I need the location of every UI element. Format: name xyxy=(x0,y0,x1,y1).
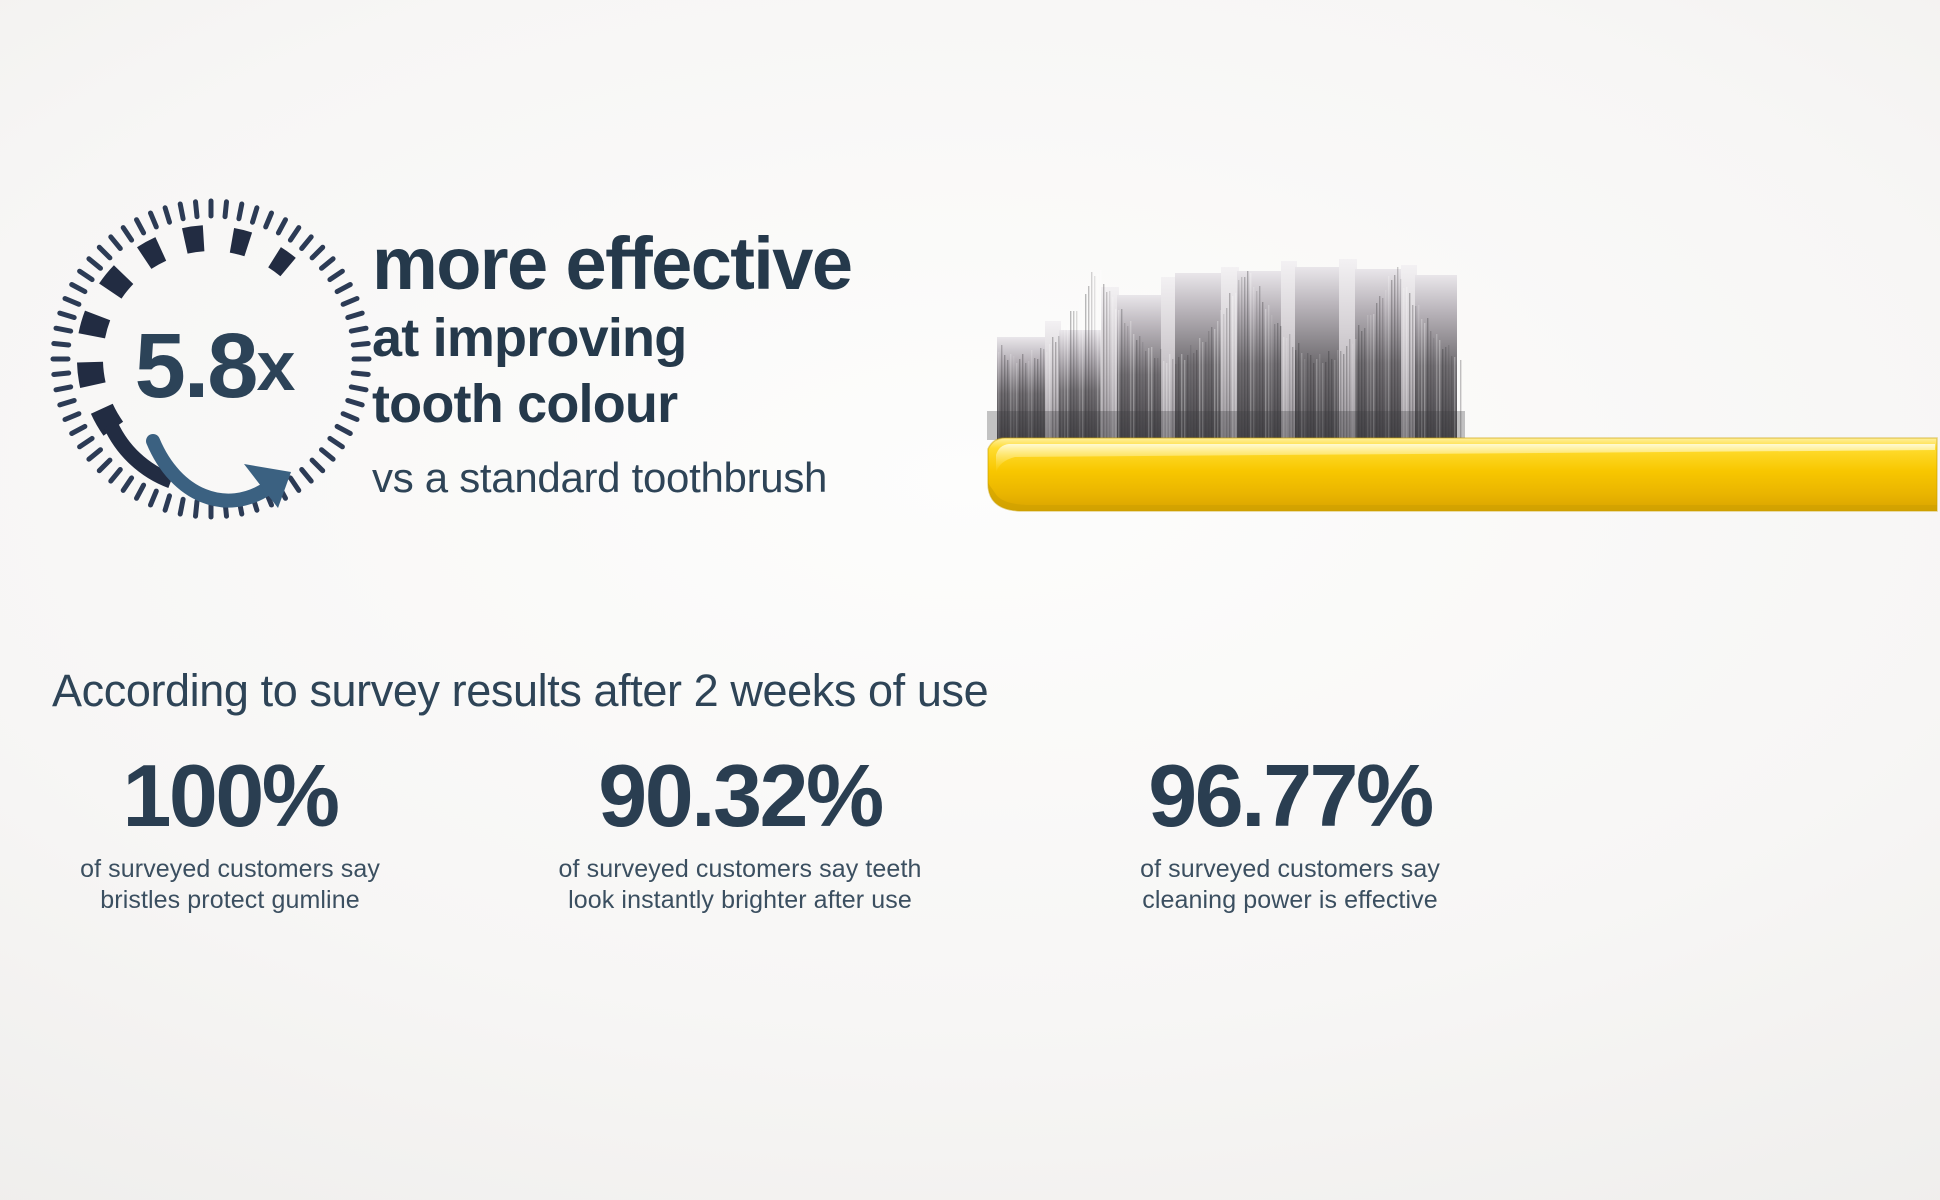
toothbrush-handle xyxy=(988,438,1937,511)
stat-value: 90.32% xyxy=(460,752,1020,840)
headline-primary: more effective xyxy=(372,228,1012,301)
headline-secondary-a: at improving xyxy=(372,309,1012,367)
headline-secondary-b: tooth colour xyxy=(372,375,1012,433)
gauge-number: 5.8 xyxy=(135,314,257,419)
stat-card: 96.77% of surveyed customers say cleanin… xyxy=(1020,752,1560,915)
stat-caption-line: look instantly brighter after use xyxy=(460,885,1020,916)
stat-caption: of surveyed customers say cleaning power… xyxy=(1020,854,1560,915)
stat-caption-line: of surveyed customers say teeth xyxy=(460,854,1020,885)
bristles xyxy=(987,259,1465,441)
stat-caption-line: of surveyed customers say xyxy=(0,854,460,885)
stat-caption: of surveyed customers say teeth look ins… xyxy=(460,854,1020,915)
stat-caption: of surveyed customers say bristles prote… xyxy=(0,854,460,915)
stat-caption-line: cleaning power is effective xyxy=(1020,885,1560,916)
toothbrush-head-photo xyxy=(975,225,1940,545)
stat-caption-line: bristles protect gumline xyxy=(0,885,460,916)
infographic-canvas: 5.8x more effective at improving tooth c… xyxy=(0,0,1940,1200)
toothbrush-illustration xyxy=(975,225,1940,545)
stat-caption-line: of surveyed customers say xyxy=(1020,854,1560,885)
stat-value: 96.77% xyxy=(1020,752,1560,840)
survey-intro: According to survey results after 2 week… xyxy=(52,665,988,717)
stat-value: 100% xyxy=(0,752,460,840)
effectiveness-gauge: 5.8x xyxy=(48,196,374,522)
gauge-suffix: x xyxy=(256,326,293,406)
stat-card: 100% of surveyed customers say bristles … xyxy=(0,752,460,915)
headline-block: more effective at improving tooth colour… xyxy=(372,228,1012,501)
gauge-value: 5.8x xyxy=(48,196,374,522)
stat-card: 90.32% of surveyed customers say teeth l… xyxy=(460,752,1020,915)
headline-subline: vs a standard toothbrush xyxy=(372,455,1012,501)
survey-stats-row: 100% of surveyed customers say bristles … xyxy=(0,752,1560,915)
